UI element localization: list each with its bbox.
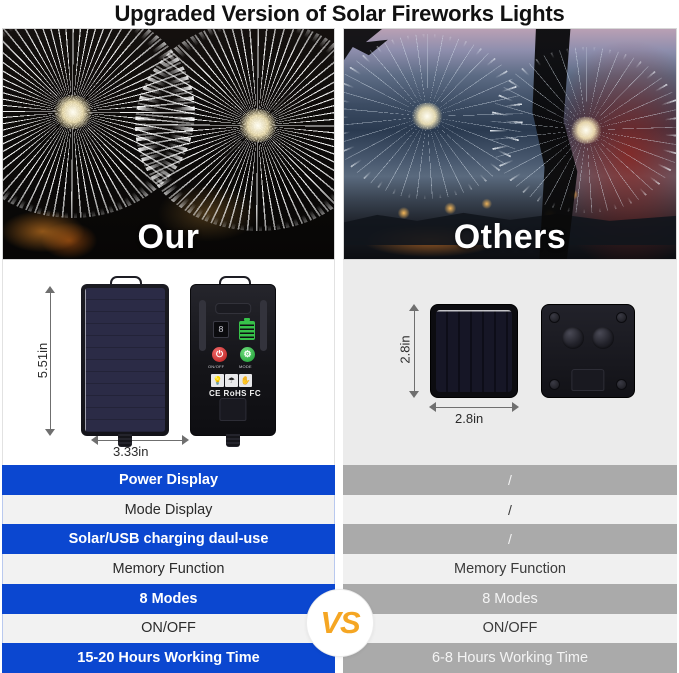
others-width-label: 2.8in bbox=[455, 411, 483, 426]
others-feature-cell: 6-8 Hours Working Time bbox=[343, 643, 677, 673]
button-dome-icon[interactable] bbox=[592, 327, 614, 349]
mode-button[interactable]: ⚙ bbox=[240, 347, 255, 362]
ours-control-box: 8 ⏻ ON/OFF ⚙ MODE 💡 ☂ ✋ CE RoHS FC bbox=[190, 284, 276, 436]
others-spec-panel: 2.8in 2.8in bbox=[343, 260, 677, 465]
bulb-icon: 💡 bbox=[211, 374, 224, 387]
battery-indicator-icon bbox=[239, 321, 255, 340]
button-dome-icon[interactable] bbox=[562, 327, 584, 349]
others-control-box-port bbox=[571, 369, 604, 391]
waterproof-icon: ☂ bbox=[225, 374, 238, 387]
product-comparison-infographic: Upgraded Version of Solar Fireworks Ligh… bbox=[0, 0, 679, 673]
others-height-label: 2.8in bbox=[398, 335, 413, 363]
screw-icon bbox=[616, 379, 627, 390]
screw-icon bbox=[549, 312, 560, 323]
ours-spec-panel: 5.51in 3.33in 8 ⏻ ON/OFF ⚙ bbox=[2, 260, 335, 465]
table-row: Solar/USB charging daul-use/ bbox=[0, 524, 679, 554]
screw-icon bbox=[616, 312, 627, 323]
others-feature-cell: 8 Modes bbox=[343, 584, 677, 614]
others-solar-panel bbox=[430, 304, 518, 398]
photo-comparison-band: Our Others bbox=[0, 28, 679, 260]
ours-feature-cell: Memory Function bbox=[2, 554, 335, 584]
others-feature-cell: Memory Function bbox=[343, 554, 677, 584]
hand-icon: ✋ bbox=[239, 374, 252, 387]
ours-height-label: 5.51in bbox=[35, 343, 50, 378]
ours-feature-cell: Mode Display bbox=[2, 495, 335, 525]
others-product-photo: Others bbox=[343, 28, 677, 260]
others-feature-cell: / bbox=[343, 524, 677, 554]
control-box-port bbox=[219, 398, 246, 421]
others-control-box bbox=[541, 304, 635, 398]
others-feature-cell: / bbox=[343, 495, 677, 525]
firework-burst-icon bbox=[490, 47, 676, 213]
vs-badge: VS bbox=[307, 590, 373, 656]
ours-feature-cell: 15-20 Hours Working Time bbox=[2, 643, 335, 673]
power-button-caption: ON/OFF bbox=[208, 364, 224, 369]
screw-icon bbox=[549, 379, 560, 390]
page-title: Upgraded Version of Solar Fireworks Ligh… bbox=[0, 0, 679, 28]
power-button[interactable]: ⏻ bbox=[212, 347, 227, 362]
others-photo-label: Others bbox=[344, 217, 676, 257]
spec-comparison-band: 5.51in 3.33in 8 ⏻ ON/OFF ⚙ bbox=[0, 260, 679, 465]
ours-feature-cell: 8 Modes bbox=[2, 584, 335, 614]
table-row: Mode Display/ bbox=[0, 495, 679, 525]
feature-icons-row: 💡 ☂ ✋ bbox=[211, 374, 252, 387]
solar-panel-connector bbox=[118, 434, 132, 447]
ours-feature-cell: Power Display bbox=[2, 465, 335, 495]
ours-product-photo: Our bbox=[2, 28, 335, 260]
others-feature-cell: ON/OFF bbox=[343, 614, 677, 644]
ours-feature-cell: ON/OFF bbox=[2, 614, 335, 644]
table-row: Power Display/ bbox=[0, 465, 679, 495]
ours-photo-label: Our bbox=[3, 217, 334, 257]
ours-solar-panel bbox=[81, 284, 169, 436]
others-feature-cell: / bbox=[343, 465, 677, 495]
certification-marks: CE RoHS FC bbox=[209, 389, 261, 398]
control-box-connector bbox=[226, 434, 240, 447]
power-display-screen: 8 bbox=[213, 321, 229, 338]
mode-button-caption: MODE bbox=[239, 364, 252, 369]
ours-feature-cell: Solar/USB charging daul-use bbox=[2, 524, 335, 554]
table-row: Memory FunctionMemory Function bbox=[0, 554, 679, 584]
